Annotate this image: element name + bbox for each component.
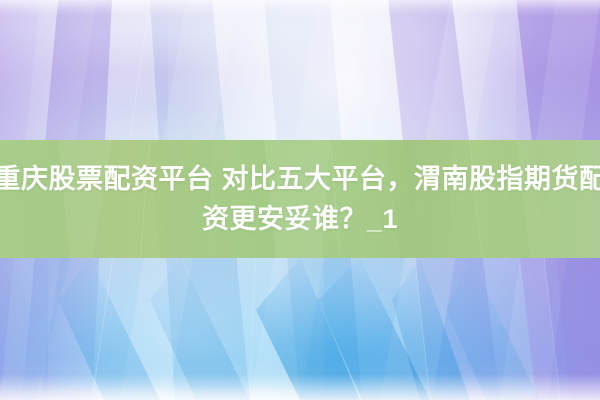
bottom-white-haze — [0, 374, 600, 400]
top-white-haze — [0, 0, 600, 16]
banner-image: 重庆股票配资平台 对比五大平台，渭南股指期货配 资更安妥谁？_1 — [0, 0, 600, 400]
banner-title: 重庆股票配资平台 对比五大平台，渭南股指期货配 资更安妥谁？_1 — [0, 140, 600, 258]
title-line-2: 资更安妥谁？_1 — [202, 199, 398, 239]
title-line-1: 重庆股票配资平台 对比五大平台，渭南股指期货配 — [0, 159, 600, 199]
